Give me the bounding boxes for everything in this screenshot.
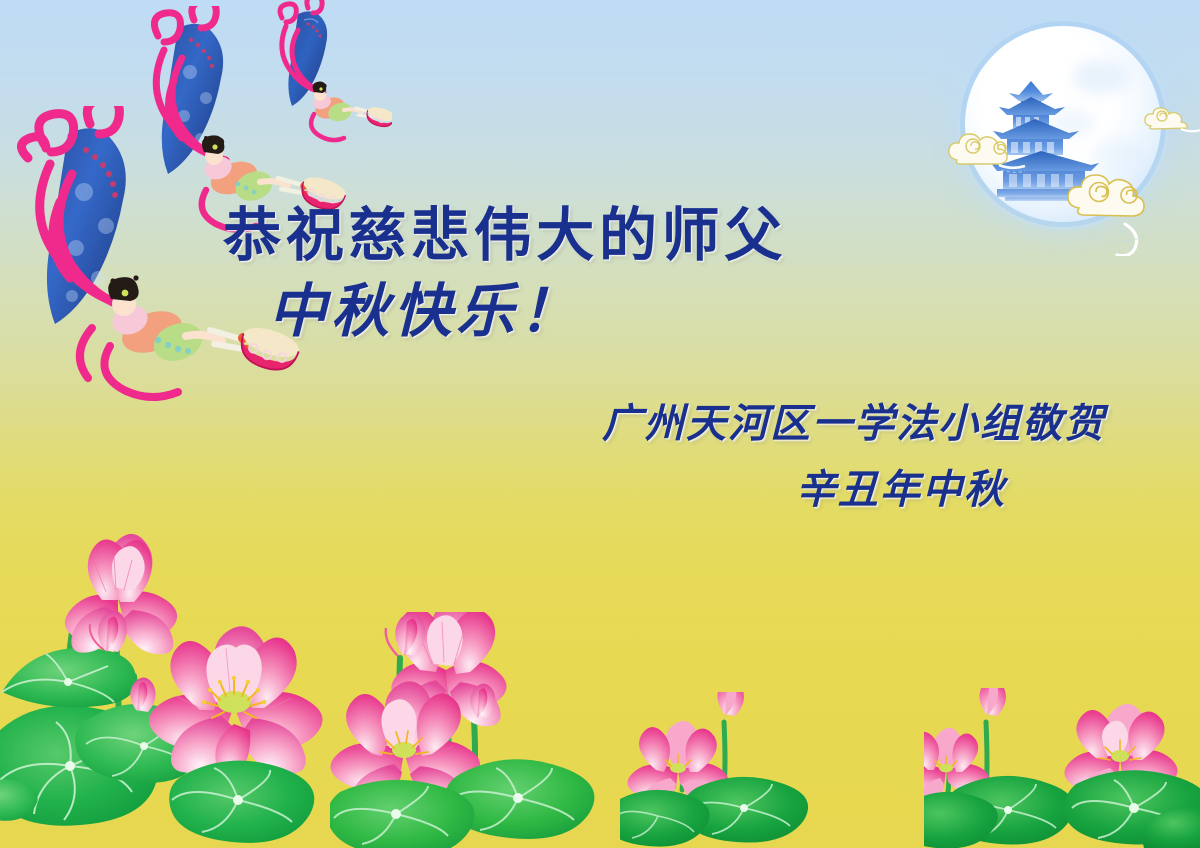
auspicious-cloud-bottom-icon [1063,168,1185,256]
signature-line-1: 广州天河区一学法小组敬贺 [0,404,1106,444]
moon-group [955,18,1185,248]
lotus-cluster-right-small [620,692,860,848]
lotus-cluster-far-right [924,688,1200,848]
apsara-large-left [2,106,322,406]
auspicious-cloud-left-icon [943,126,1041,178]
signature-text-block: 广州天河区一学法小组敬贺 辛丑年中秋 [0,404,1106,510]
moon-mottle-c [1095,138,1143,168]
lotus-cluster-left [0,500,376,848]
auspicious-cloud-right-icon [1141,102,1200,138]
greeting-card: 恭祝慈悲伟大的师父 中秋快乐！ 广州天河区一学法小组敬贺 辛丑年中秋 [0,0,1200,848]
